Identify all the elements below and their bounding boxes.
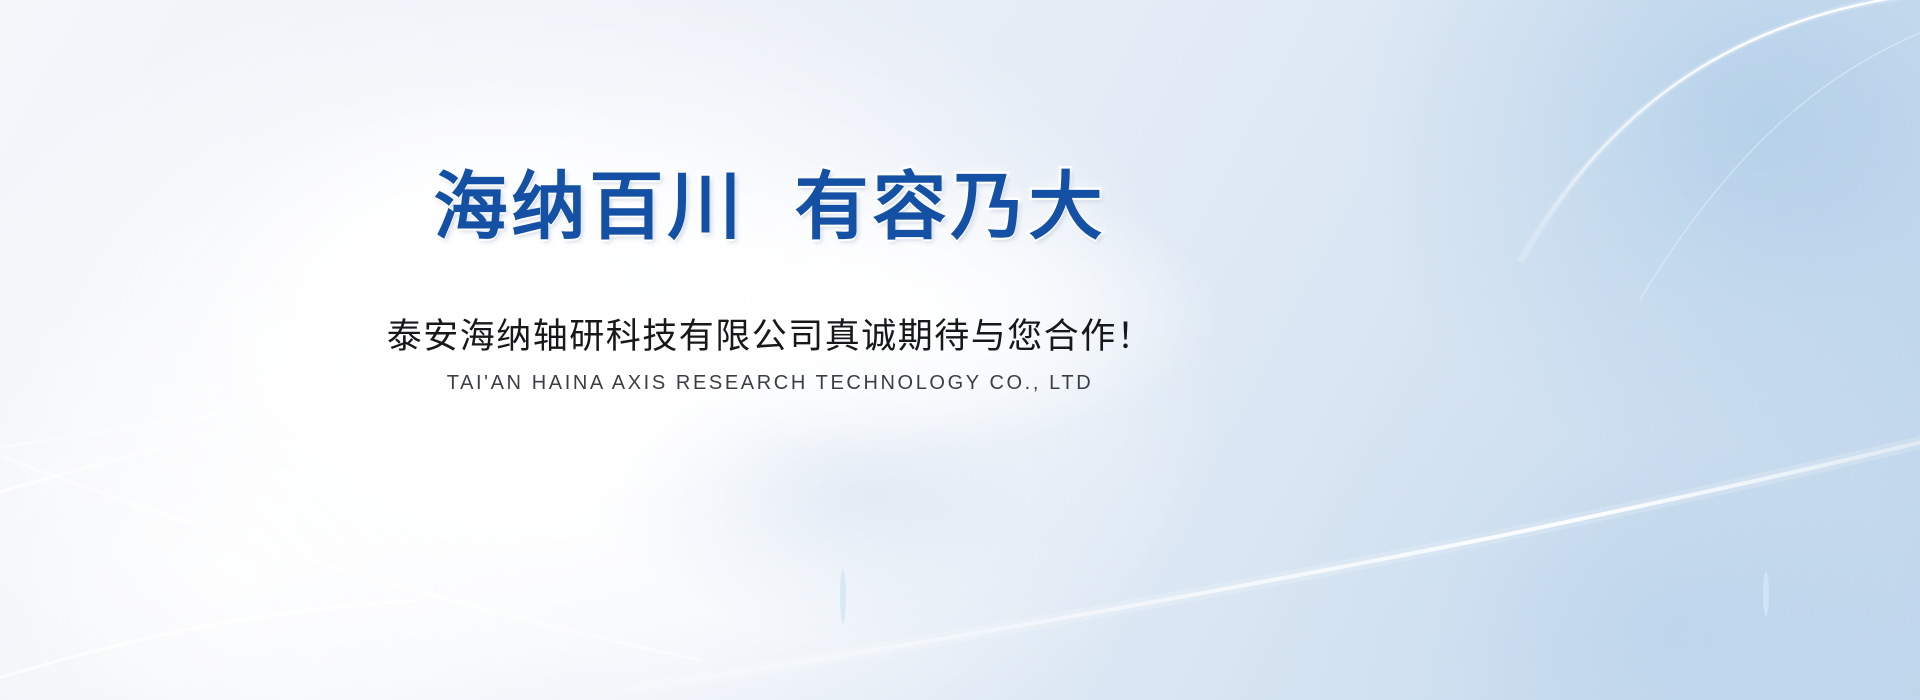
banner-subtitle-chinese: 泰安海纳轴研科技有限公司真诚期待与您合作！	[387, 308, 1154, 359]
arc-top-right-secondary-icon	[1640, 18, 1920, 300]
banner-content: 海纳百川 有容乃大 泰安海纳轴研科技有限公司真诚期待与您合作！ TAI'AN H…	[0, 0, 1540, 700]
arc-top-right-glow	[1520, 0, 1920, 262]
arc-top-right-icon	[1520, 0, 1920, 262]
hero-banner: 海纳百川 有容乃大 泰安海纳轴研科技有限公司真诚期待与您合作！ TAI'AN H…	[0, 0, 1920, 700]
lens-flare-secondary-icon	[1763, 572, 1769, 616]
banner-headline: 海纳百川 有容乃大	[433, 168, 1106, 246]
banner-subtitle-english: TAI'AN HAINA AXIS RESEARCH TECHNOLOGY CO…	[447, 372, 1094, 395]
